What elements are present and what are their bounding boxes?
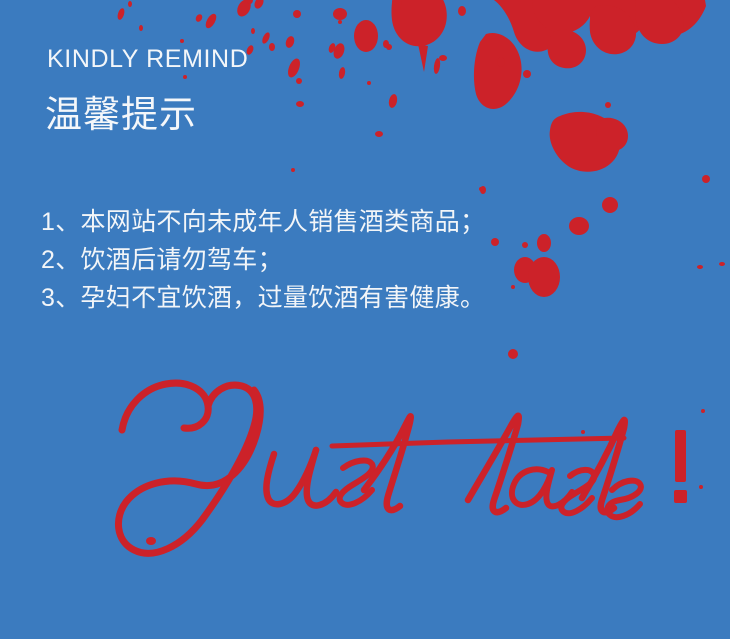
list-item: 2、饮酒后请勿驾车； — [41, 241, 485, 279]
just-taste-script-logo — [96, 372, 656, 552]
script-lettering — [96, 372, 656, 552]
kindly-remind-banner: KINDLY REMIND 温馨提示 1、本网站不向未成年人销售酒类商品； 2、… — [0, 0, 730, 639]
list-item: 3、孕妇不宜饮酒，过量饮酒有害健康。 — [41, 279, 485, 317]
eyebrow-label: KINDLY REMIND — [47, 45, 248, 74]
notice-list: 1、本网站不向未成年人销售酒类商品； 2、饮酒后请勿驾车； 3、孕妇不宜饮酒，过… — [41, 203, 485, 317]
exclamation-glyph — [674, 430, 687, 503]
list-item: 1、本网站不向未成年人销售酒类商品； — [41, 203, 485, 241]
banner-text-layer: KINDLY REMIND 温馨提示 1、本网站不向未成年人销售酒类商品； 2、… — [0, 0, 730, 639]
page-title: 温馨提示 — [45, 84, 197, 138]
